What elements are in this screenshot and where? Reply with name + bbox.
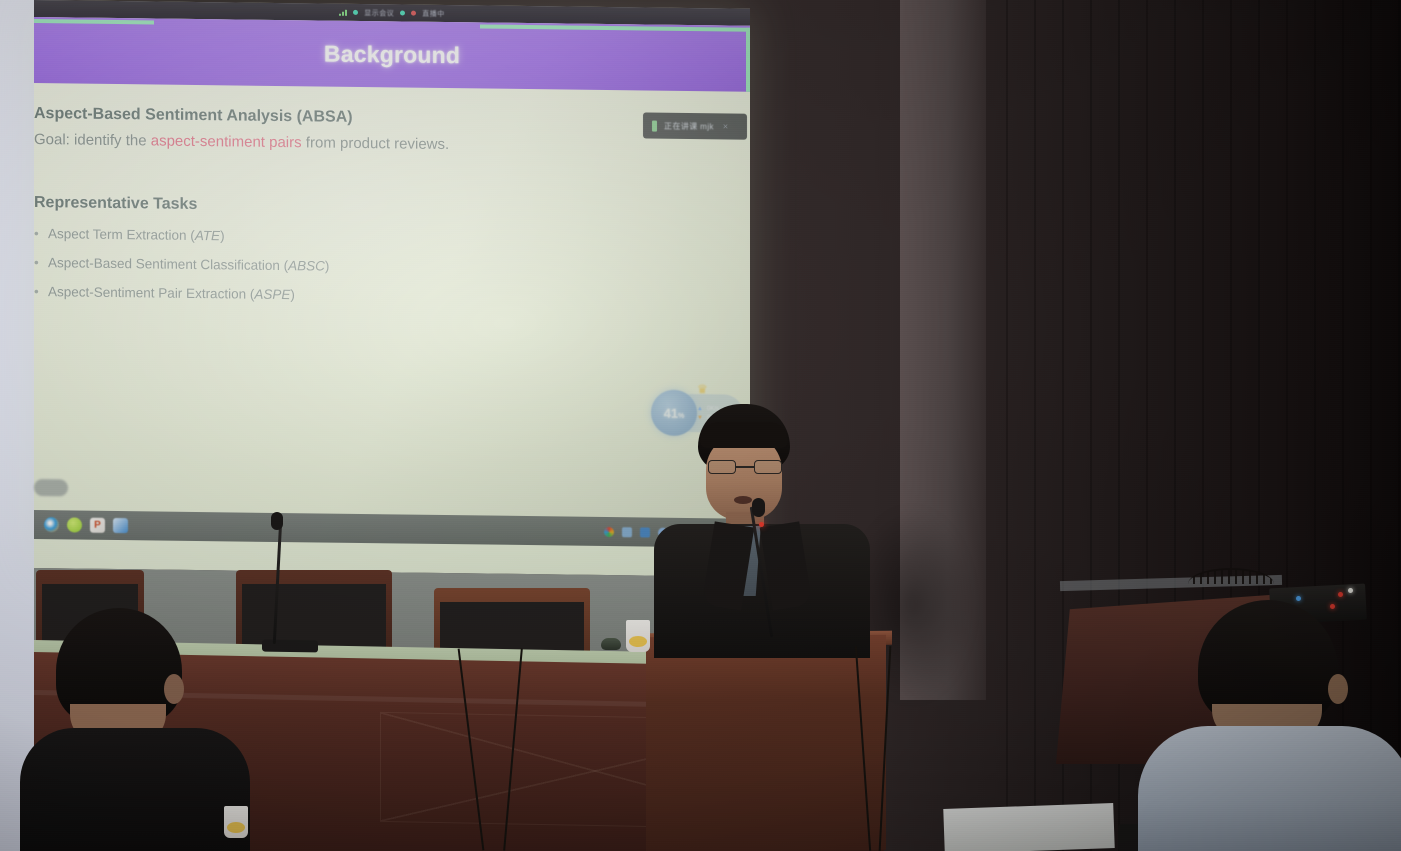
task-text: Aspect Term Extraction ( [48, 226, 195, 243]
battery-icon [652, 120, 657, 131]
notification-toast[interactable]: 正在讲课 mjk × [643, 112, 747, 139]
list-item: Aspect-Based Sentiment Classification (A… [12, 255, 750, 279]
goal-prefix: Goal: identify the [34, 131, 151, 149]
goal-highlight: aspect-sentiment pairs [151, 132, 302, 151]
wooden-podium [646, 635, 886, 851]
accent-line-top-left [34, 19, 154, 24]
chair-back [242, 584, 386, 648]
green-app-icon[interactable] [67, 517, 82, 532]
paper-cup-audience [224, 806, 248, 838]
glasses-bridge [736, 466, 754, 468]
chair-center [236, 570, 392, 648]
list-item: Aspect-Sentiment Pair Extraction (ASPE) [12, 284, 750, 308]
status-label-left: 显示会议 [364, 8, 394, 18]
conference-room-photo: 显示会议 直播中 Background Aspect-Based Sentime… [0, 0, 1401, 851]
powerpoint-icon[interactable] [90, 518, 105, 533]
taskbar-app-icons [44, 517, 128, 533]
paper-cup-podium [626, 620, 650, 652]
mixer-led-red [1338, 592, 1343, 597]
glasses-lens-right [754, 460, 782, 474]
sync-icon[interactable] [640, 527, 650, 537]
projection-screen: 显示会议 直播中 Background Aspect-Based Sentime… [34, 0, 750, 577]
presentation-slide: Background Aspect-Based Sentiment Analys… [34, 17, 750, 548]
audience-ear [1328, 674, 1348, 704]
absa-goal-line: Goal: identify the aspect-sentiment pair… [4, 131, 750, 157]
chrome-icon[interactable] [604, 526, 614, 536]
absa-heading: Aspect-Based Sentiment Analysis (ABSA) [8, 105, 750, 132]
crown-icon: ♛ [697, 382, 708, 396]
task-abbr: ATE [195, 228, 220, 243]
chair-right [434, 588, 590, 652]
task-close: ) [325, 259, 330, 274]
slide-edge-pill[interactable] [34, 479, 68, 496]
toast-text: 正在讲课 mjk [664, 120, 714, 132]
status-label-right: 直播中 [422, 8, 445, 18]
desktop-taskbar[interactable] [34, 510, 750, 548]
computer-mouse [601, 638, 621, 650]
presenter-fringe [700, 422, 788, 448]
microphone-capsule [271, 512, 283, 530]
tasks-heading: Representative Tasks [8, 194, 750, 221]
task-abbr: ABSC [288, 258, 325, 273]
task-text: Aspect-Based Sentiment Classification ( [48, 255, 288, 273]
audience-shirt-dark [20, 728, 250, 851]
status-dot-icon [353, 10, 358, 15]
status-dot-icon-2 [400, 10, 405, 15]
presenter-mouth [734, 496, 752, 504]
documents-on-table [943, 803, 1114, 851]
accent-line-right [746, 28, 750, 92]
podium-microphone-capsule [752, 498, 765, 517]
microphone-led-icon [759, 522, 764, 527]
chair-back [440, 602, 584, 652]
slide-title: Background [324, 40, 460, 69]
presenter-at-podium [662, 404, 862, 654]
task-abbr: ASPE [254, 287, 290, 302]
audience-member-front-left [30, 608, 210, 851]
audience-member-right [1150, 600, 1400, 851]
tasks-list: Aspect Term Extraction (ATE) Aspect-Base… [34, 226, 750, 308]
record-dot-icon [411, 11, 416, 16]
glasses-lens-left [708, 460, 736, 474]
glasses-icon [708, 460, 782, 474]
accent-line-top-right [480, 24, 750, 31]
task-close: ) [290, 287, 295, 302]
task-text: Aspect-Sentiment Pair Extraction ( [48, 284, 254, 302]
blue-app-icon[interactable] [113, 518, 128, 533]
ie-browser-icon[interactable] [44, 517, 59, 532]
left-wall-strip [0, 0, 34, 851]
audience-shirt-light-blue [1138, 726, 1401, 851]
network-icon[interactable] [622, 527, 632, 537]
list-item: Aspect Term Extraction (ATE) [12, 226, 750, 250]
close-icon[interactable]: × [723, 121, 728, 131]
slide-title-banner: Background [34, 17, 750, 92]
audience-ear [164, 674, 184, 704]
mixer-led-white [1348, 588, 1353, 593]
task-close: ) [220, 228, 225, 243]
goal-suffix: from product reviews. [302, 134, 450, 153]
signal-bars-icon [339, 9, 347, 16]
microphone-base [262, 640, 318, 653]
